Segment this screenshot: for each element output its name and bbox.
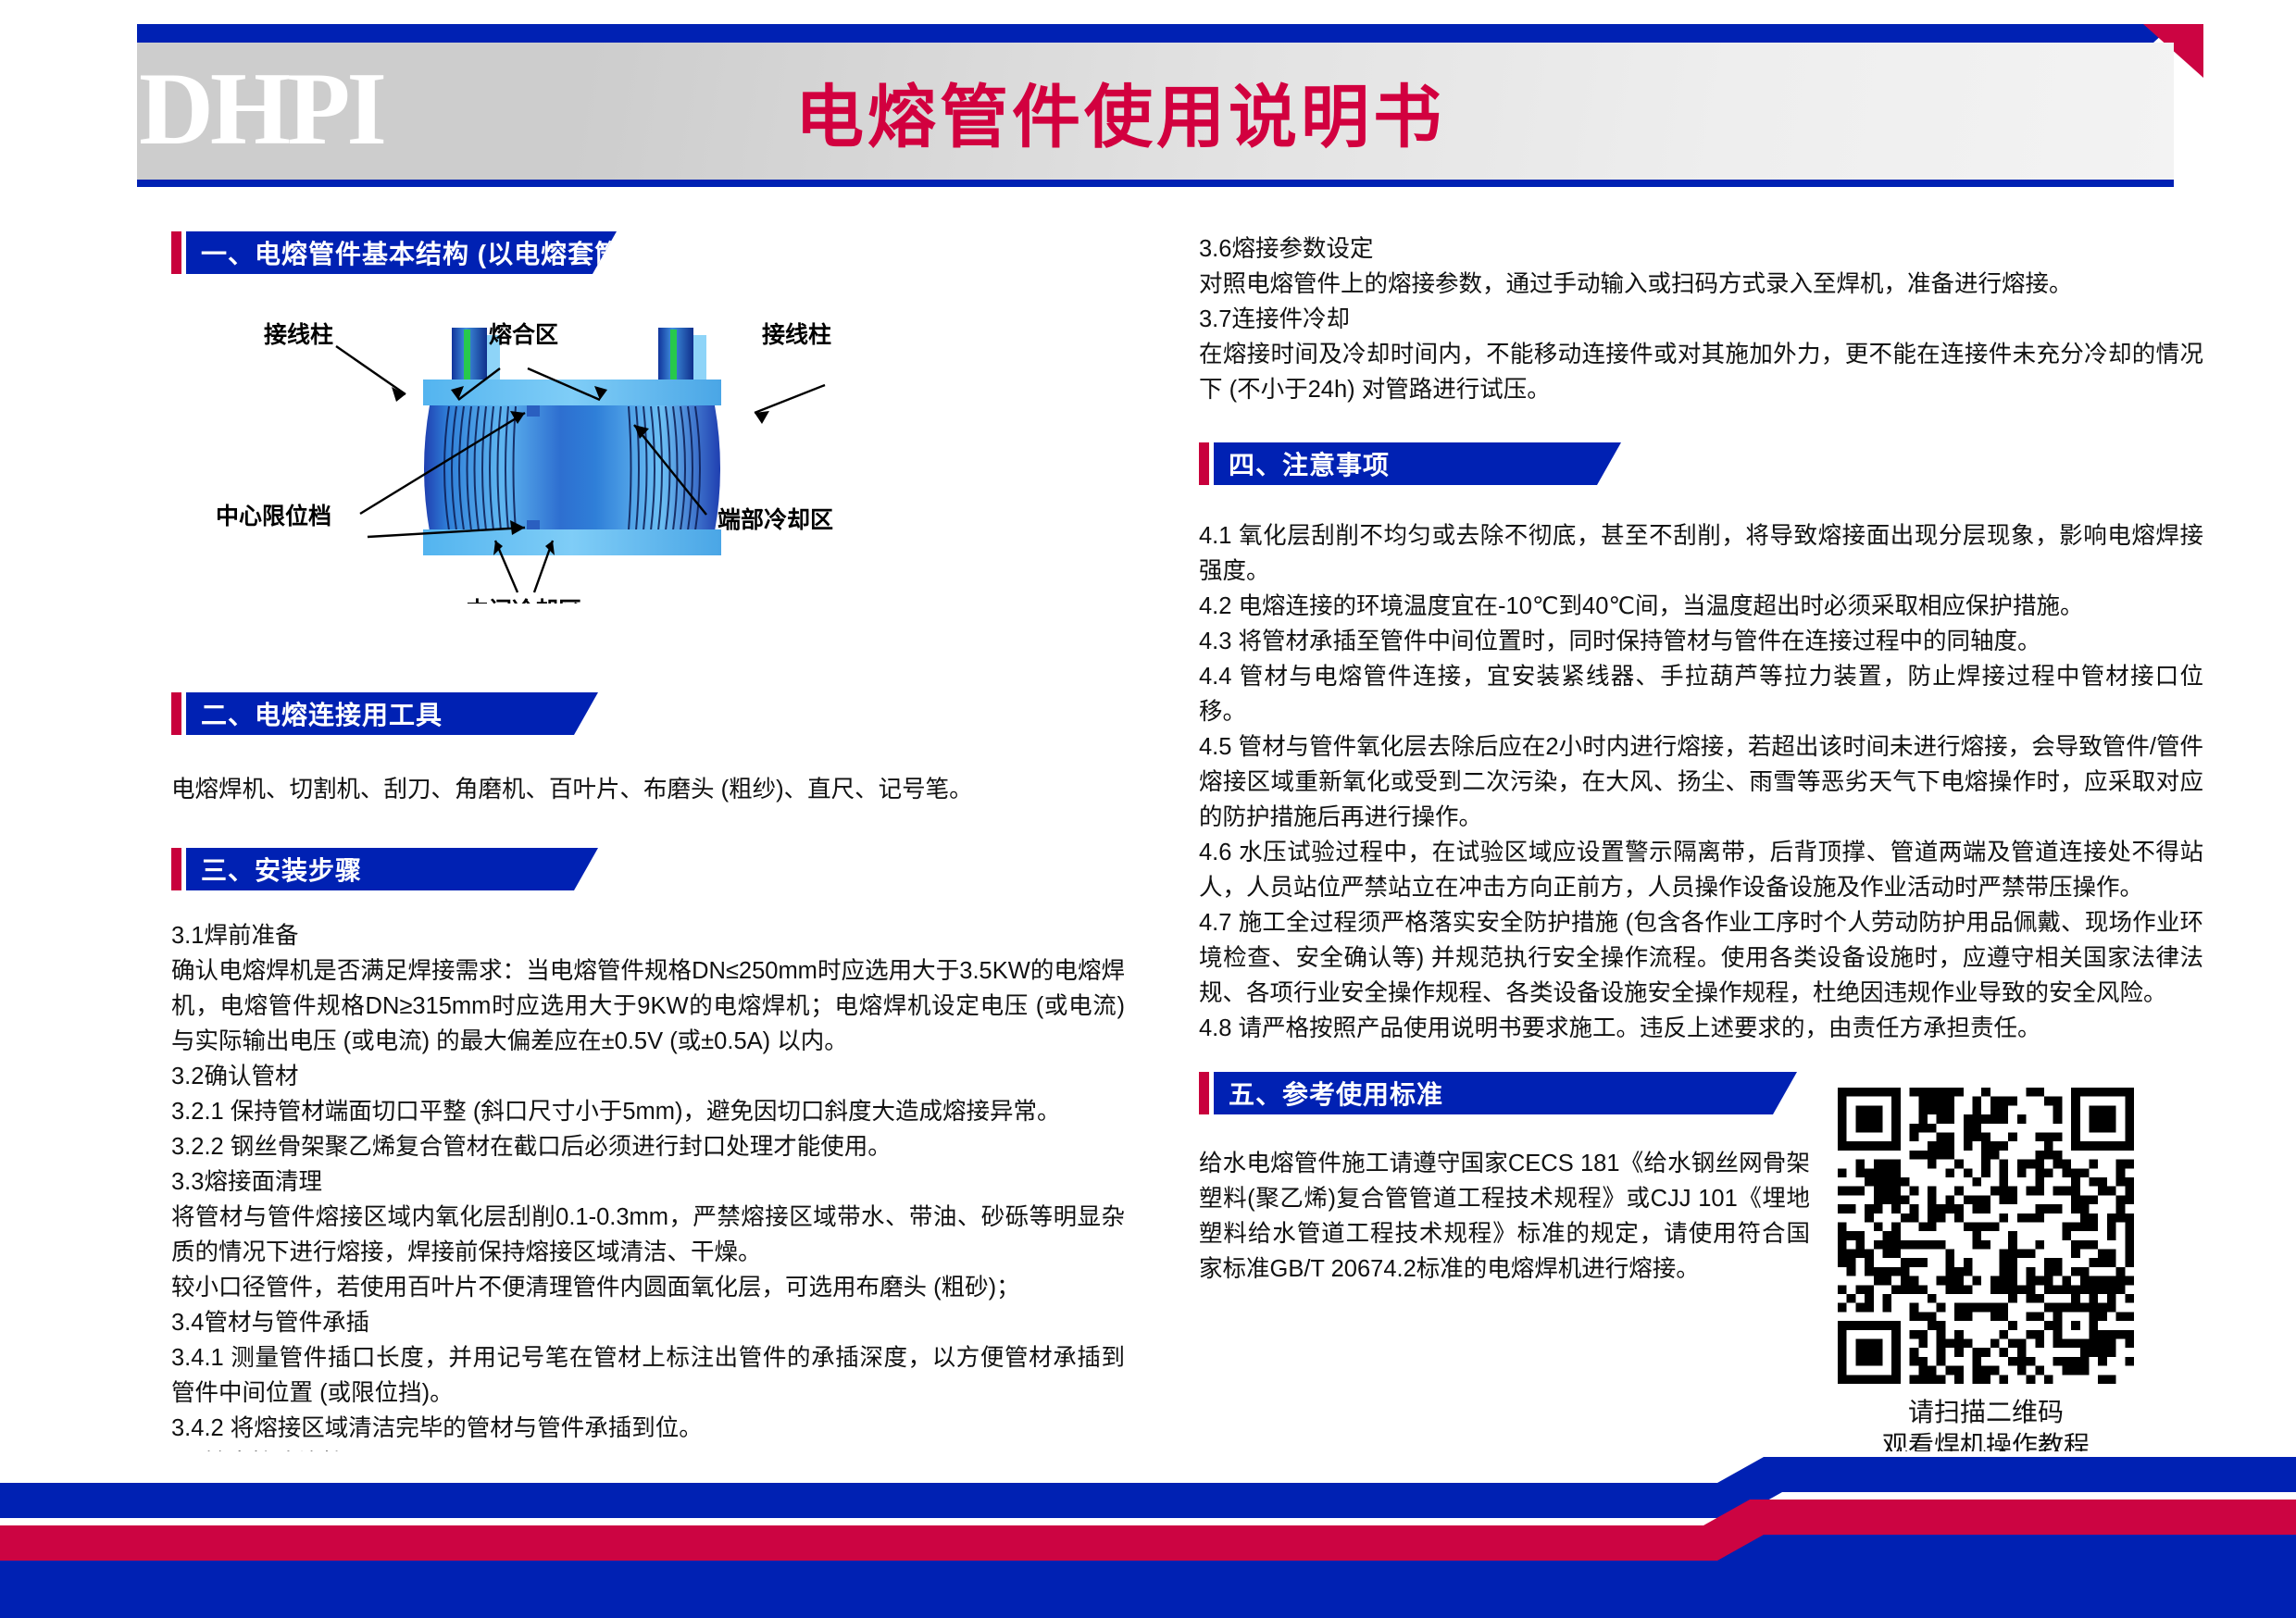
list-item: 3.4.1 测量管件插口长度，并用记号笔在管材上标注出管件的承插深度，以方便管材… — [171, 1340, 1125, 1411]
qr-code-image[interactable] — [1838, 1088, 2134, 1384]
list-item: 3.2.1 保持管材端面切口平整 (斜口尺寸小于5mm)，避免因切口斜度大造成熔… — [171, 1094, 1125, 1129]
list-item: 确认电熔焊机是否满足焊接需求：当电熔管件规格DN≤250mm时应选用大于3.5K… — [171, 953, 1125, 1059]
list-item: 4.6 水压试验过程中，在试验区域应设置警示隔离带，后背顶撑、管道两端及管道连接… — [1199, 835, 2203, 905]
label-end-cooling-zone: 端部冷却区 — [717, 506, 833, 533]
list-item: 4.5 管材与管件氧化层去除后应在2小时内进行熔接，若超出该时间未进行熔接，会导… — [1199, 729, 2203, 835]
label-center-stop: 中心限位档 — [216, 503, 331, 529]
section-title-3: 三、安装步骤 — [186, 848, 598, 890]
section-header-4: 四、注意事项 — [1199, 442, 2203, 485]
left-column: 一、电熔管件基本结构 (以电熔套筒为例) — [171, 231, 1125, 1516]
section-accent-bar — [171, 848, 181, 890]
electrofusion-coupler-diagram: 接线柱 熔合区 接线柱 中心限位档 端部冷却区 中间冷却区 — [171, 298, 1125, 604]
list-item: 对照电熔管件上的熔接参数，通过手动输入或扫码方式录入至焊机，准备进行熔接。 — [1199, 267, 2203, 302]
label-terminal-left: 接线柱 — [264, 321, 333, 348]
list-item: 3.4管材与管件承插 — [171, 1305, 1125, 1340]
section-title-4: 四、注意事项 — [1214, 442, 1621, 485]
section-accent-bar — [1199, 442, 1209, 485]
page-footer — [0, 1451, 2296, 1618]
page-title: 电熔管件使用说明书 — [704, 43, 1537, 180]
list-item: 4.2 电熔连接的环境温度宜在-10℃到40℃间，当温度超出时必须采取相应保护措… — [1199, 589, 2203, 624]
page-header: DHPI 电熔管件使用说明书 — [0, 0, 2296, 185]
install-steps-list: 3.1焊前准备 确认电熔焊机是否满足焊接需求：当电熔管件规格DN≤250mm时应… — [171, 918, 1125, 1516]
list-item: 将管材与管件熔接区域内氧化层刮削0.1-0.3mm，严禁熔接区域带水、带油、砂砾… — [171, 1200, 1125, 1270]
standards-text: 给水电熔管件施工请遵守国家CECS 181《给水钢丝网骨架塑料(聚乙烯)复合管管… — [1199, 1146, 1810, 1287]
section-accent-bar — [1199, 1072, 1209, 1114]
list-item: 4.8 请严格按照产品使用说明书要求施工。违反上述要求的，由责任方承担责任。 — [1199, 1011, 2203, 1046]
list-item: 3.3熔接面清理 — [171, 1164, 1125, 1200]
install-steps-continued: 3.6熔接参数设定 对照电熔管件上的熔接参数，通过手动输入或扫码方式录入至焊机，… — [1199, 231, 2203, 407]
list-item: 3.4.2 将熔接区域清洁完毕的管材与管件承插到位。 — [171, 1411, 1125, 1446]
header-bottom-blue-line — [137, 180, 2174, 187]
list-item: 4.3 将管材承插至管件中间位置时，同时保持管材与管件在连接过程中的同轴度。 — [1199, 624, 2203, 659]
section-header-3: 三、安装步骤 — [171, 848, 1125, 890]
section-header-1: 一、电熔管件基本结构 (以电熔套筒为例) — [171, 231, 1125, 274]
list-item: 3.2确认管材 — [171, 1059, 1125, 1094]
qr-code-block: 请扫描二维码 观看焊机操作教程 — [1828, 1088, 2143, 1465]
section-title-5: 五、参考使用标准 — [1214, 1072, 1797, 1114]
list-item: 4.4 管材与电熔管件连接，宜安装紧线器、手拉葫芦等拉力装置，防止焊接过程中管材… — [1199, 659, 2203, 729]
tools-list-text: 电熔焊机、切割机、刮刀、角磨机、百叶片、布磨头 (粗纱)、直尺、记号笔。 — [171, 772, 1125, 807]
list-item: 4.7 施工全过程须严格落实安全防护措施 (包含各作业工序时个人劳动防护用品佩戴… — [1199, 905, 2203, 1011]
section-title-1: 一、电熔管件基本结构 (以电熔套筒为例) — [186, 231, 617, 274]
section-accent-bar — [171, 692, 181, 735]
list-item: 3.6熔接参数设定 — [1199, 231, 2203, 267]
header-top-blue-bar — [137, 24, 2174, 43]
list-item: 3.7连接件冷却 — [1199, 302, 2203, 337]
list-item: 在熔接时间及冷却时间内，不能移动连接件或对其施加外力，更不能在连接件未充分冷却的… — [1199, 337, 2203, 407]
label-fusion-zone: 熔合区 — [489, 321, 558, 348]
label-terminal-right: 接线柱 — [762, 321, 831, 348]
list-item: 较小口径管件，若使用百叶片不便清理管件内圆面氧化层，可选用布磨头 (粗砂)； — [171, 1270, 1125, 1305]
section-header-2: 二、电熔连接用工具 — [171, 692, 1125, 735]
company-logo: DHPI — [139, 54, 383, 165]
list-item: 3.2.2 钢丝骨架聚乙烯复合管材在截口后必须进行封口处理才能使用。 — [171, 1129, 1125, 1164]
section-accent-bar — [171, 231, 181, 274]
label-middle-cooling-zone: 中间冷却区 — [466, 597, 581, 604]
precautions-list: 4.1 氧化层刮削不均匀或去除不彻底，甚至不刮削，将导致熔接面出现分层现象，影响… — [1199, 518, 2203, 1046]
list-item: 4.1 氧化层刮削不均匀或去除不彻底，甚至不刮削，将导致熔接面出现分层现象，影响… — [1199, 518, 2203, 589]
list-item: 3.1焊前准备 — [171, 918, 1125, 953]
coupler-graphic — [423, 328, 721, 555]
section-title-2: 二、电熔连接用工具 — [186, 692, 598, 735]
